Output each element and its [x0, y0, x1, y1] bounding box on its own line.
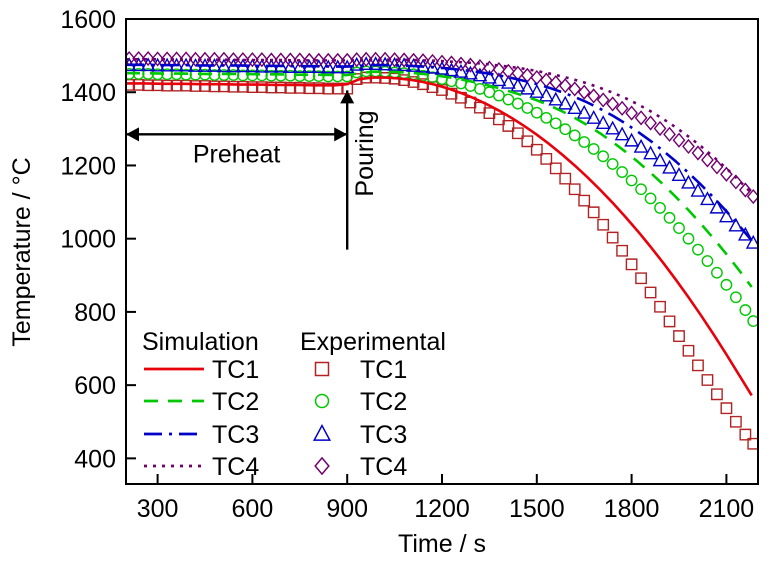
- x-tick-label: 1200: [414, 495, 470, 523]
- x-tick-label: 1800: [604, 495, 660, 523]
- legend-label: TC2: [212, 388, 259, 416]
- legend-label: TC3: [360, 421, 407, 449]
- legend-label: TC3: [212, 421, 259, 449]
- y-tick-label: 400: [74, 445, 116, 473]
- x-tick-label: 2100: [699, 495, 755, 523]
- legend-header-simulation: Simulation: [142, 328, 259, 356]
- legend-label: TC2: [360, 388, 407, 416]
- x-axis-title: Time / s: [398, 530, 486, 558]
- x-tick-label: 1500: [509, 495, 565, 523]
- x-tick-label: 600: [232, 495, 274, 523]
- temperature-time-chart: 3006009001200150018002100400600800100012…: [0, 0, 768, 570]
- preheat-label: Preheat: [193, 140, 281, 168]
- legend-header-experimental: Experimental: [300, 328, 446, 356]
- y-tick-label: 1600: [60, 6, 116, 34]
- chart-container: 3006009001200150018002100400600800100012…: [0, 0, 768, 570]
- y-tick-label: 1000: [60, 226, 116, 254]
- y-tick-label: 1200: [60, 152, 116, 180]
- pouring-label: Pouring: [351, 110, 379, 196]
- legend-label: TC1: [360, 356, 407, 384]
- legend-label: TC4: [212, 453, 259, 481]
- x-tick-label: 900: [326, 495, 368, 523]
- y-axis-title: Temperature / °C: [8, 157, 36, 346]
- legend-label: TC4: [360, 453, 407, 481]
- legend-label: TC1: [212, 356, 259, 384]
- y-tick-label: 600: [74, 372, 116, 400]
- y-tick-label: 800: [74, 299, 116, 327]
- y-tick-label: 1400: [60, 79, 116, 107]
- x-tick-label: 300: [137, 495, 179, 523]
